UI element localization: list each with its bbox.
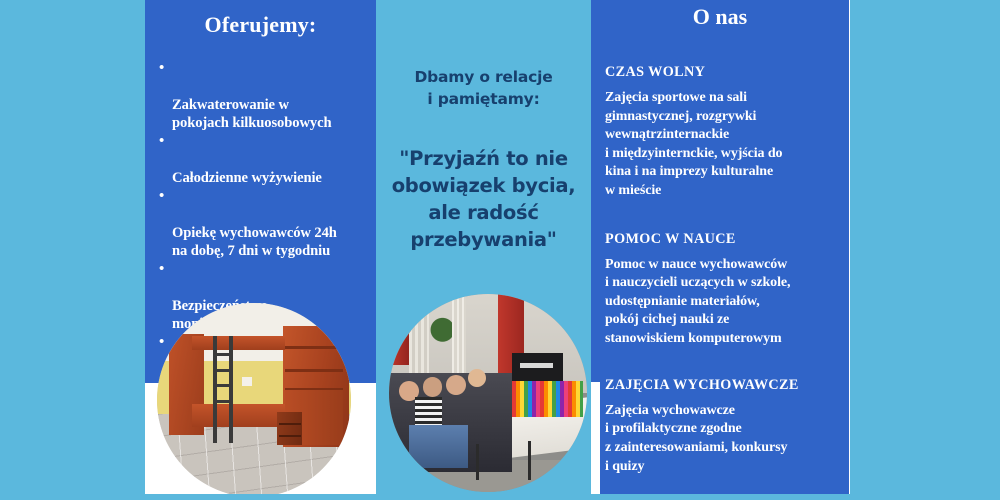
photo-window-sheer xyxy=(409,294,429,383)
room-ladder-rung xyxy=(213,353,230,356)
photo-person-head xyxy=(468,369,486,387)
bullet-icon: • xyxy=(159,260,164,279)
about-title: O nas xyxy=(591,4,849,30)
list-item-label: Zakwaterowanie w pokojach kilkuosobowych xyxy=(172,97,332,131)
room-drawer-edge xyxy=(279,435,300,437)
section-heading: POMOC W NAUCE xyxy=(605,231,849,248)
section-body: Zajęcia wychowawcze i profilaktyczne zgo… xyxy=(605,402,849,476)
students-common-room-photo xyxy=(389,294,587,492)
bullet-icon: • xyxy=(159,132,164,151)
photo-tv-logo xyxy=(520,363,554,368)
photo-colored-cloth xyxy=(512,381,583,417)
room-ladder-rail xyxy=(229,336,233,443)
room-drawer-edge xyxy=(279,423,300,425)
room-wall-poster xyxy=(242,377,252,387)
bullet-icon: • xyxy=(159,59,164,78)
photo-table-leg xyxy=(476,444,479,480)
room-ladder-rung xyxy=(213,384,230,387)
room-nightstand xyxy=(277,412,302,445)
room-shelf xyxy=(285,346,343,349)
room-bunk-upper xyxy=(192,336,285,350)
offer-title: Oferujemy: xyxy=(145,12,376,38)
room-shelf xyxy=(285,369,343,372)
list-item: • Opiekę wychowawców 24h na dobę, 7 dni … xyxy=(159,188,372,260)
photo-table-leg xyxy=(528,441,531,481)
list-item: • Całodzienne wyżywienie xyxy=(159,133,372,187)
about-column: O nas CZAS WOLNY Zajęcia sportowe na sal… xyxy=(591,0,849,500)
poster-canvas: Oferujemy: • Zakwaterowanie w pokojach k… xyxy=(0,0,1000,500)
section-heading: ZAJĘCIA WYCHOWAWCZE xyxy=(605,377,849,394)
section-body: Pomoc w nauce wychowawców i nauczycieli … xyxy=(605,256,849,349)
photo-jeans xyxy=(409,425,468,469)
quote-lead-text: Dbamy o relacje i pamiętamy: xyxy=(376,66,591,110)
about-section-activities: ZAJĘCIA WYCHOWAWCZE Zajęcia wychowawcze … xyxy=(605,377,849,476)
list-item-label: Całodzienne wyżywienie xyxy=(172,170,322,186)
room-ladder-rung xyxy=(213,400,230,403)
bullet-icon: • xyxy=(159,187,164,206)
room-bunk-lower xyxy=(192,404,285,427)
photo-window-sheer xyxy=(452,294,466,373)
dormitory-room-photo xyxy=(157,303,351,497)
room-ladder-rail xyxy=(213,336,217,443)
white-notch xyxy=(591,382,600,494)
section-body: Zajęcia sportowe na sali gimnastycznej, … xyxy=(605,89,849,201)
section-heading: CZAS WOLNY xyxy=(605,64,849,81)
about-section-free-time: CZAS WOLNY Zajęcia sportowe na sali gimn… xyxy=(605,64,849,201)
list-item-label: Opiekę wychowawców 24h na dobę, 7 dni w … xyxy=(172,225,337,259)
about-section-study-help: POMOC W NAUCE Pomoc w nauce wychowawców … xyxy=(605,231,849,349)
bottom-accent-strip xyxy=(145,494,850,500)
list-item: • Zakwaterowanie w pokojach kilkuosobowy… xyxy=(159,60,372,132)
room-ladder-rung xyxy=(213,369,230,372)
quote-main-text: "Przyjaźń to nie obowiązek bycia, ale ra… xyxy=(376,146,591,254)
